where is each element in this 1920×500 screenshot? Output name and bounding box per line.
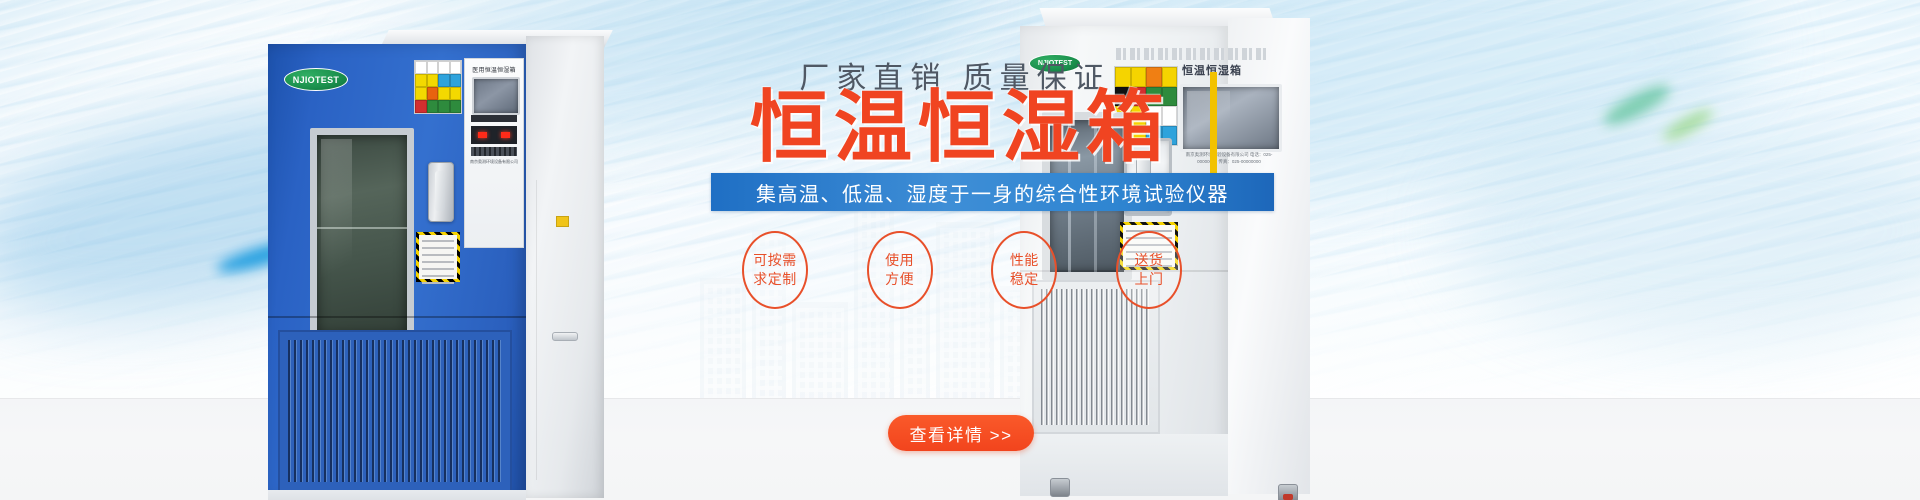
hazard-label (416, 232, 460, 282)
side-yellow-tab (556, 216, 569, 227)
control-panel-title: 恒温恒湿箱 (1182, 62, 1274, 78)
yellow-edge-strip (1210, 72, 1217, 188)
ventilation-grille (1032, 280, 1160, 434)
led-indicator (478, 132, 487, 138)
brand-logo: NJIOTEST (1029, 54, 1081, 73)
control-display-screen[interactable] (1180, 84, 1282, 152)
product-chamber-left: NJIOTEST 医用恒温恒湿箱 (268, 30, 604, 498)
led-indicator-row (471, 126, 517, 144)
led-indicator (501, 132, 510, 138)
body-seam-line (268, 316, 526, 318)
caster-wheel (1050, 478, 1070, 497)
warning-sticker-panel (414, 60, 462, 114)
view-details-label: 查看详情 >> (909, 421, 1012, 446)
ventilation-grille (278, 330, 512, 492)
chamber-front-body: NJIOTEST 恒温恒湿箱 南京奥测环境试验设备有限公司 电话：025-000… (1020, 26, 1228, 494)
side-door-handle (552, 332, 578, 341)
control-button-row[interactable] (471, 147, 517, 156)
promo-banner: NJIOTEST 医用恒温恒湿箱 (0, 0, 1920, 500)
inner-access-door (1124, 138, 1172, 216)
chamber-front-body: NJIOTEST 医用恒温恒湿箱 (268, 44, 526, 498)
view-details-button[interactable]: 查看详情 >> (888, 415, 1034, 451)
control-dark-strip (471, 115, 517, 122)
hazard-label (1120, 222, 1178, 270)
control-display-screen[interactable] (472, 77, 520, 115)
product-chamber-right: NJIOTEST 恒温恒湿箱 南京奥测环境试验设备有限公司 电话：025-000… (1020, 8, 1310, 494)
control-panel-footer: 南京奥测环境设备有限公司 (469, 159, 519, 165)
control-panel: 医用恒温恒湿箱 南京奥测环境设备有限公司 (464, 58, 524, 248)
brand-logo-text: NJIOTEST (293, 75, 339, 85)
chamber-base-plinth (268, 490, 526, 500)
body-seam-line (1020, 270, 1228, 272)
chamber-view-window (1042, 112, 1132, 280)
brand-logo: NJIOTEST (284, 68, 348, 91)
top-louver-vents (1116, 48, 1266, 60)
control-panel-title: 医用恒温恒湿箱 (465, 65, 523, 74)
control-panel-footer: 南京奥测环境试验设备有限公司 电话：025-00000000 传真：025-00… (1182, 152, 1276, 166)
caster-wheel (1278, 484, 1298, 500)
chamber-view-window (310, 128, 414, 342)
brand-logo-text: NJIOTEST (1038, 60, 1072, 67)
chamber-door-handle (428, 162, 454, 222)
